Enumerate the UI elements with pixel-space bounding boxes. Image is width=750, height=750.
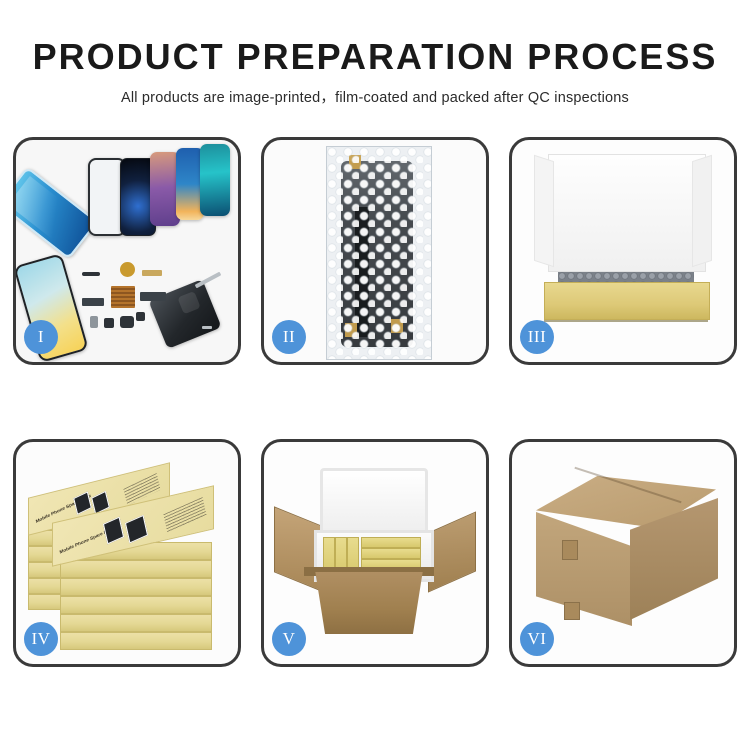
step-badge-6: VI: [520, 622, 554, 656]
part-screw-set: [202, 326, 212, 329]
part-connector-bar: [82, 272, 100, 276]
step-badge-5: V: [272, 622, 306, 656]
step-badge-3: III: [520, 320, 554, 354]
process-steps-grid: I II: [13, 137, 737, 667]
phone-tilted-blue: [16, 166, 98, 259]
step-badge-2: II: [272, 320, 306, 354]
box-lid-flap-right: [692, 155, 712, 267]
page-title: PRODUCT PREPARATION PROCESS: [0, 38, 750, 76]
box-label-window-front-2: [125, 515, 148, 544]
process-step-panel-3: III: [509, 137, 737, 365]
carton-tape-lower: [564, 602, 580, 620]
part-camera-module: [136, 312, 145, 321]
part-gold-coil: [120, 262, 135, 277]
stack-box-front-3: [60, 578, 212, 596]
stack-box-front-6: [60, 632, 212, 650]
stack-box-front-4: [60, 596, 212, 614]
stack-box-front-5: [60, 614, 212, 632]
part-flex-gold: [142, 270, 162, 276]
process-step-panel-1: I: [13, 137, 241, 365]
carton-left-face: [536, 512, 632, 626]
packed-unit-4: [361, 537, 421, 548]
box-body-kraft: [544, 282, 710, 320]
phone-back-housing: [148, 279, 221, 349]
part-speaker: [120, 316, 134, 328]
box-lid-panel: [548, 154, 706, 272]
page-header: PRODUCT PREPARATION PROCESS All products…: [0, 0, 750, 107]
bubble-texture: [327, 147, 431, 359]
box-label-lines-front: [163, 497, 206, 533]
part-small-module: [90, 316, 98, 328]
process-step-panel-4: Mobile Phone Spare Parts Mobile Phone Sp…: [13, 439, 241, 667]
step-badge-4: IV: [24, 622, 58, 656]
carton-flap-right: [428, 511, 476, 592]
bubble-wrap-bag: [326, 146, 432, 360]
box-label-window-front-1: [103, 517, 124, 545]
carton-tape-upper: [562, 540, 578, 560]
step-badge-1: I: [24, 320, 58, 354]
box-lid-flap-left: [534, 155, 554, 267]
process-step-panel-6: VI: [509, 439, 737, 667]
part-bracket: [104, 318, 114, 328]
carton-front-panel: [308, 572, 430, 634]
page-subtitle: All products are image-printed，film-coat…: [0, 86, 750, 107]
part-flex-cable-2: [140, 292, 166, 301]
packed-unit-5: [361, 548, 421, 559]
process-step-panel-2: II: [261, 137, 489, 365]
product-preparation-page: PRODUCT PREPARATION PROCESS All products…: [0, 0, 750, 750]
phone-cyan-swirl: [200, 144, 230, 216]
part-copper-chip: [111, 286, 135, 308]
part-flex-cable-1: [82, 298, 104, 306]
process-step-panel-5: V: [261, 439, 489, 667]
stack-box-front-2: [60, 560, 212, 578]
